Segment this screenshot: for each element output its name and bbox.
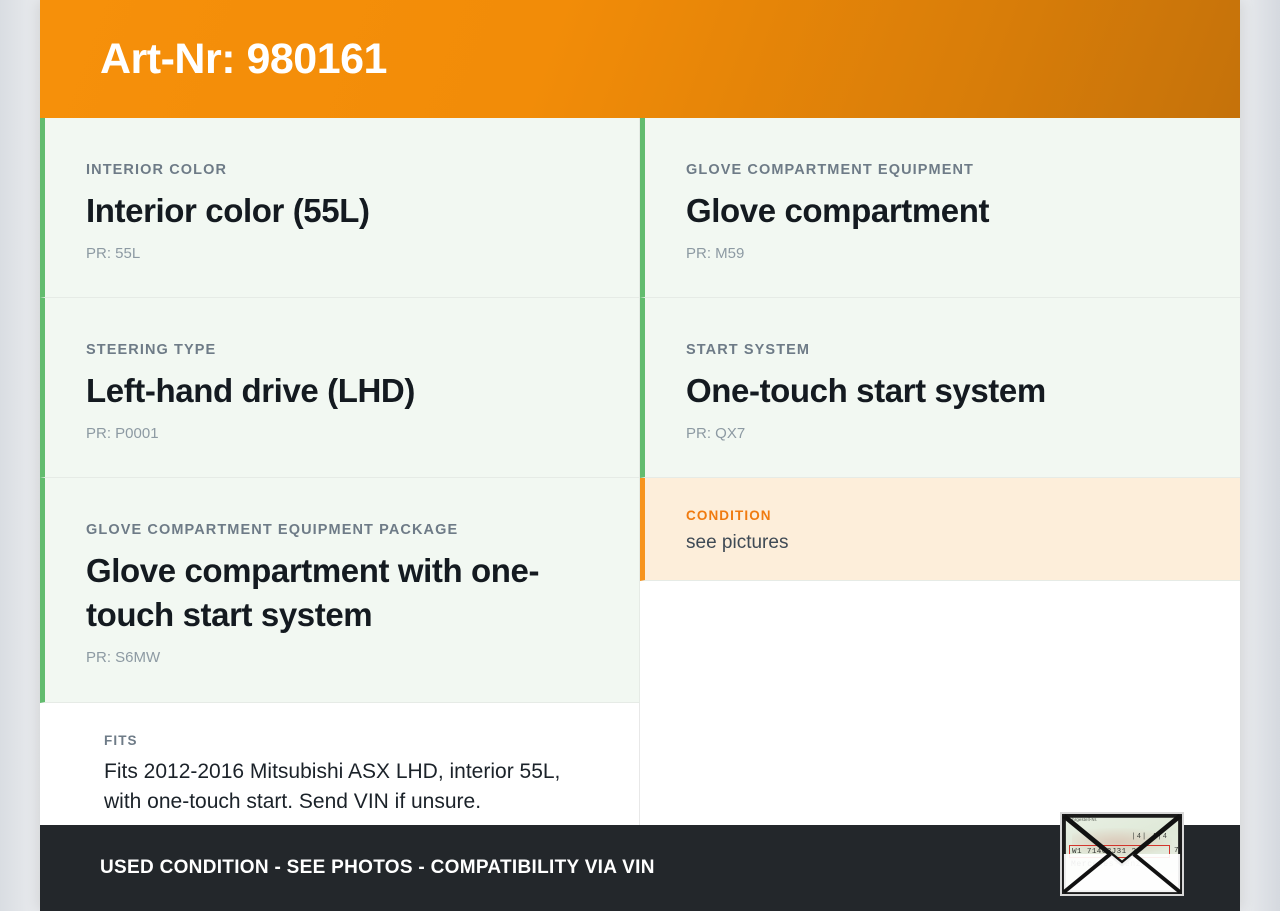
page-header: Art-Nr: 980161 <box>40 0 1240 118</box>
spec-cell-condition: CONDITION see pictures <box>640 478 1240 581</box>
spec-cell-glove-compartment-equipment: GLOVE COMPARTMENT EQUIPMENT Glove compar… <box>640 118 1240 298</box>
condition-value: see pictures <box>686 531 1194 556</box>
spec-label: GLOVE COMPARTMENT EQUIPMENT <box>686 162 1194 178</box>
spec-cell-glove-compartment-package: GLOVE COMPARTMENT EQUIPMENT PACKAGE Glov… <box>40 478 640 703</box>
spec-cell-interior-color: INTERIOR COLOR Interior color (55L) PR: … <box>40 118 640 298</box>
vehicle-registration-thumbnail[interactable]: Fahrgestell-Nr. |4| A|4 W1 71463J31 2 7 … <box>1060 812 1184 896</box>
spec-grid: INTERIOR COLOR Interior color (55L) PR: … <box>40 118 1240 703</box>
condition-label: CONDITION <box>686 508 1194 523</box>
fits-text: Fits 2012-2016 Mitsubishi ASX LHD, inter… <box>104 757 593 818</box>
spec-value: One-touch start system <box>686 369 1194 413</box>
spec-label: INTERIOR COLOR <box>86 162 593 178</box>
spec-value: Glove compartment <box>686 189 1194 233</box>
spec-value: Interior color (55L) <box>86 189 593 233</box>
spec-value: Glove compartment with one-touch start s… <box>86 549 593 637</box>
condition-column: CONDITION see pictures <box>640 478 1240 703</box>
spec-label: START SYSTEM <box>686 342 1194 358</box>
spec-label: STEERING TYPE <box>86 342 593 358</box>
page-title: Art-Nr: 980161 <box>100 38 387 81</box>
spec-label: GLOVE COMPARTMENT EQUIPMENT PACKAGE <box>86 522 593 538</box>
spec-code: PR: P0001 <box>86 425 593 443</box>
condition-column-filler <box>640 581 1240 703</box>
product-spec-sheet: Art-Nr: 980161 INTERIOR COLOR Interior c… <box>40 0 1240 911</box>
footer-text: USED CONDITION - SEE PHOTOS - COMPATIBIL… <box>100 857 655 879</box>
envelope-icon <box>1062 814 1182 894</box>
spec-code: PR: QX7 <box>686 425 1194 443</box>
spec-cell-start-system: START SYSTEM One-touch start system PR: … <box>640 298 1240 478</box>
fits-label: FITS <box>104 733 593 748</box>
spec-cell-steering-type: STEERING TYPE Left-hand drive (LHD) PR: … <box>40 298 640 478</box>
spec-value: Left-hand drive (LHD) <box>86 369 593 413</box>
spec-code: PR: S6MW <box>86 649 593 667</box>
spec-code: PR: M59 <box>686 245 1194 263</box>
spec-code: PR: 55L <box>86 245 593 263</box>
